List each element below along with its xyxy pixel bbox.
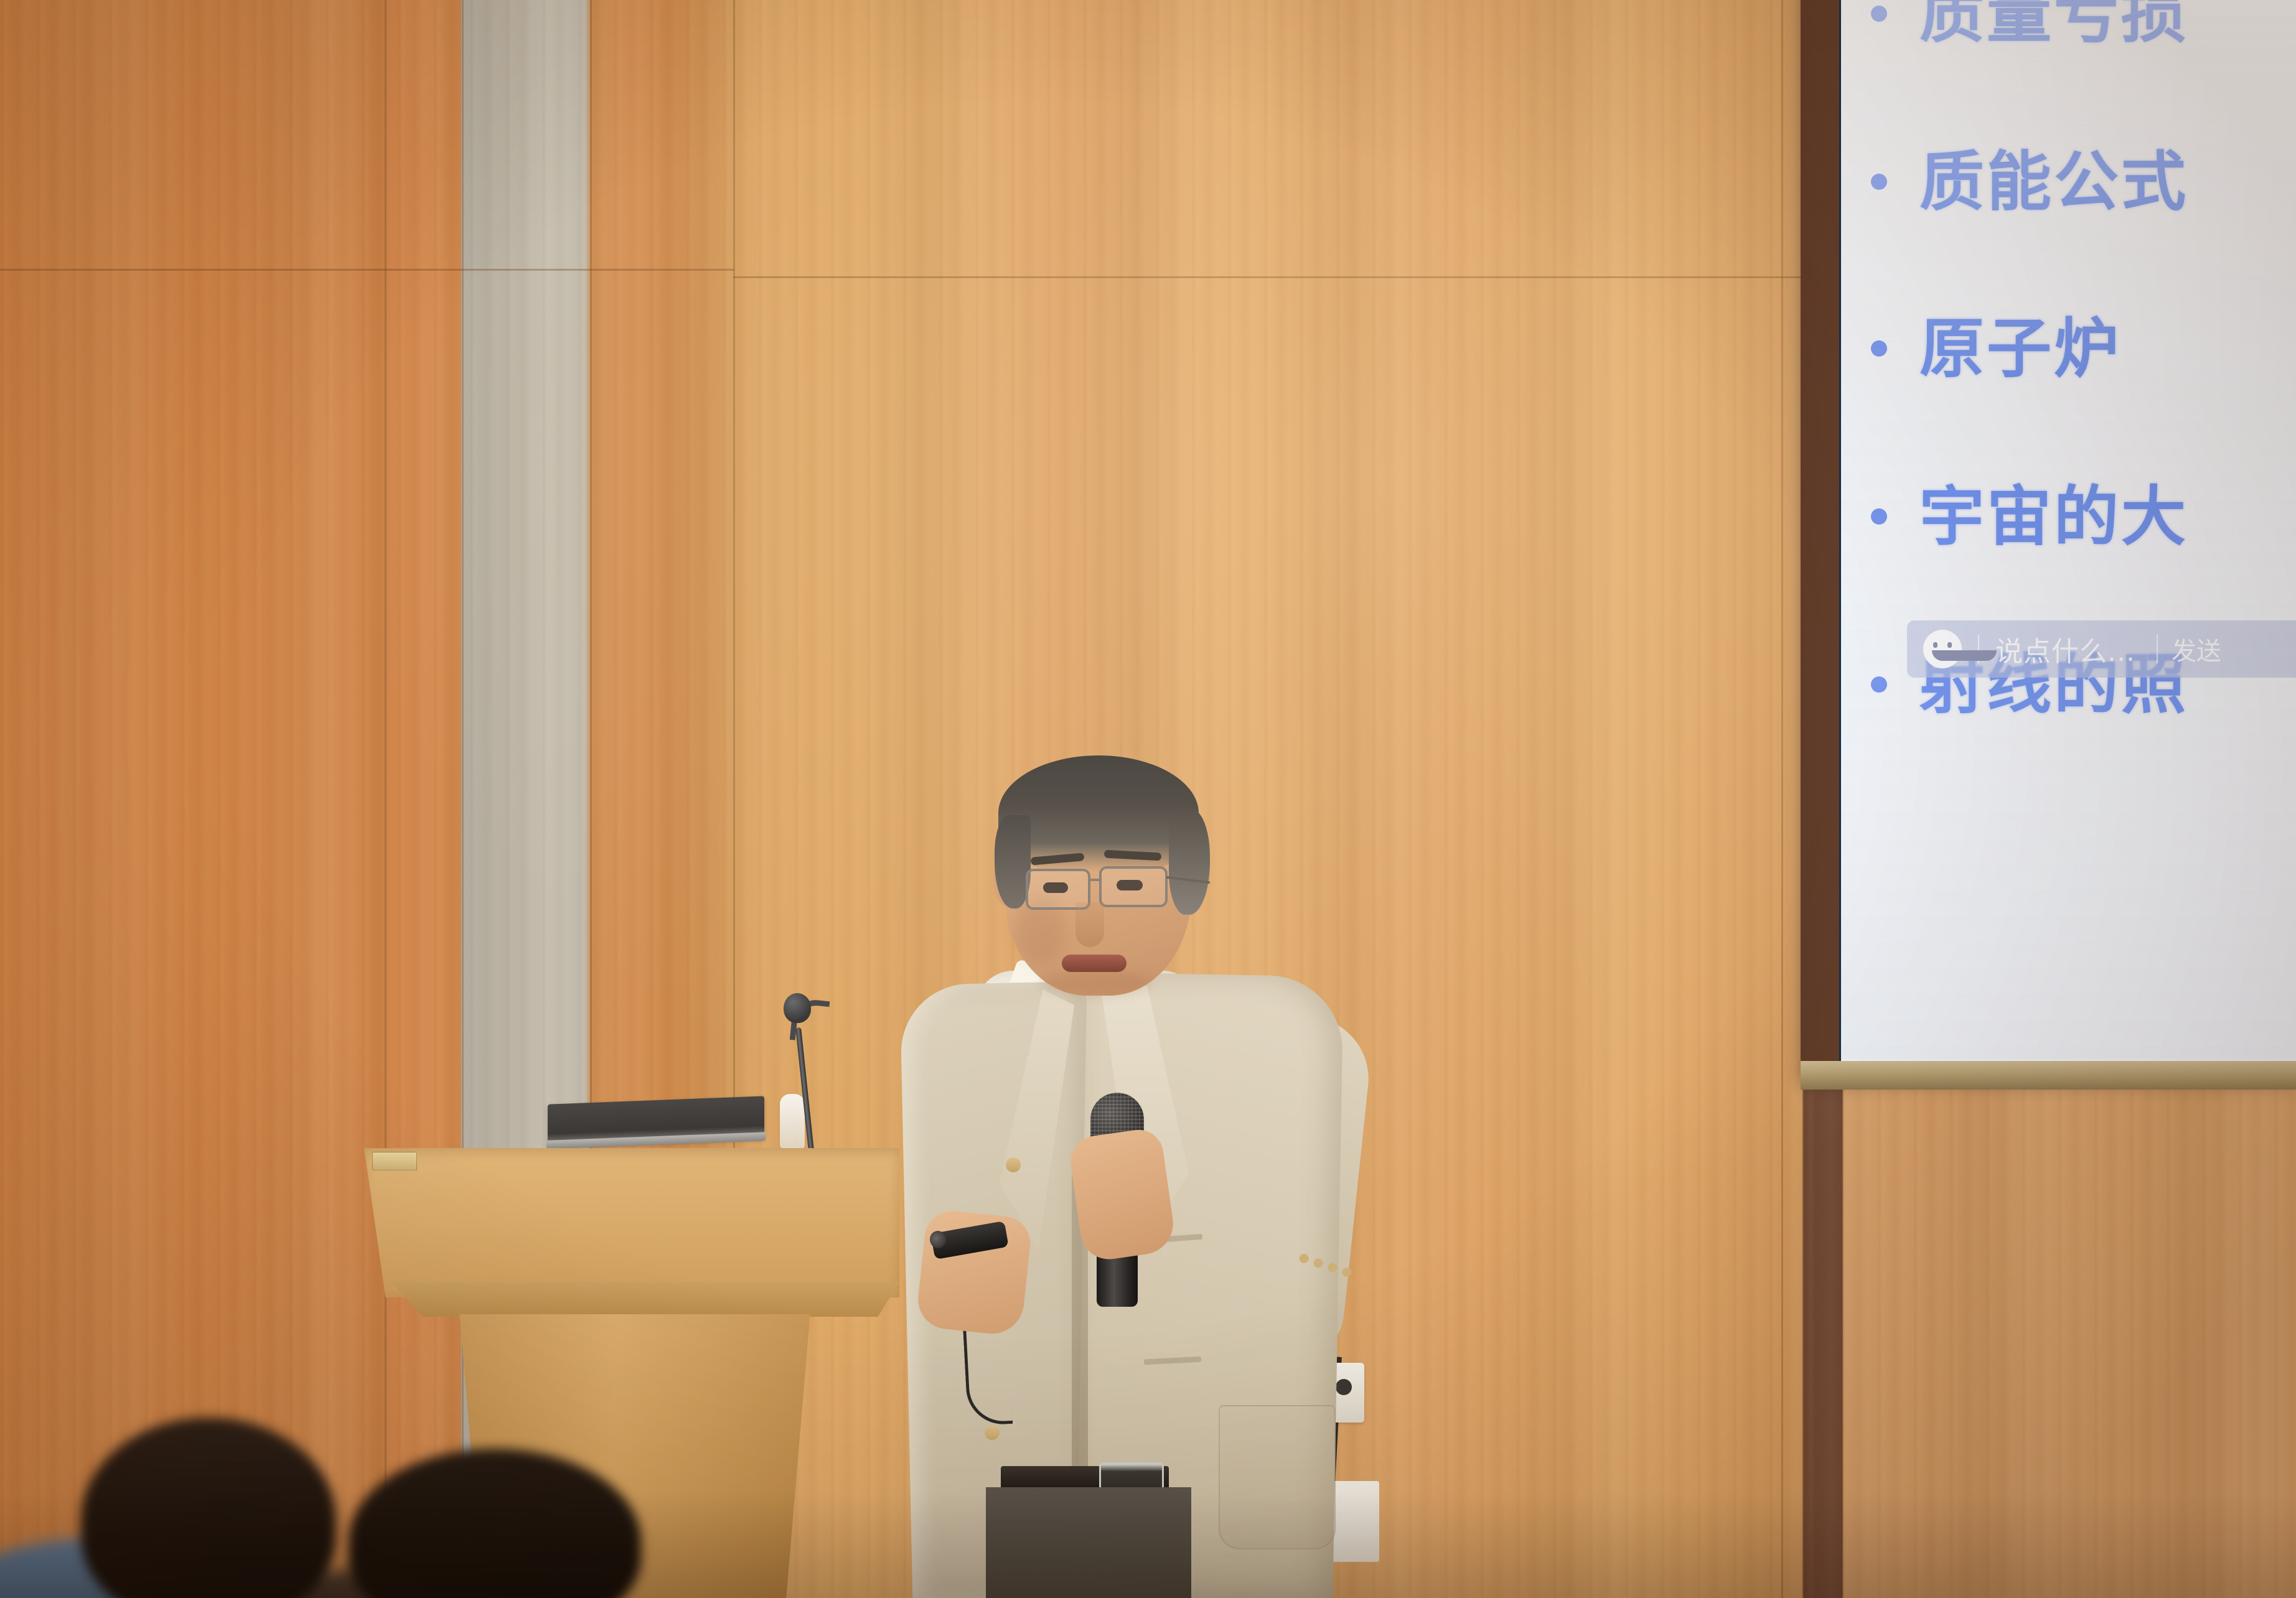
slide-bullet-text: 质量亏损 <box>1919 0 2188 46</box>
bullet-dot-icon <box>1871 676 1887 693</box>
chin-shading <box>1039 971 1151 996</box>
wall-panel-seam-horizontal <box>0 269 734 271</box>
water-glass <box>780 1094 805 1149</box>
wall-panel-seam-horizontal <box>733 276 1804 278</box>
trousers <box>986 1487 1191 1598</box>
jacket-button <box>985 1425 1000 1440</box>
speaker-figure <box>853 722 1413 1598</box>
podium-nameplate <box>372 1152 417 1170</box>
lecture-photo-scene: 质量亏损 质能公式 原子炉 宇宙的大 射线的照 说点什么... 发送 <box>0 0 2296 1598</box>
slide-bullet-text: 质能公式 <box>1919 149 2188 214</box>
hair-side-right <box>1169 809 1210 915</box>
wall-panel-seam <box>385 0 387 1598</box>
hand-right <box>1067 1127 1177 1263</box>
podium-top <box>364 1148 899 1297</box>
mouth <box>1062 955 1127 972</box>
projection-screen-bottom-bezel <box>1801 1061 2296 1090</box>
bullet-dot-icon <box>1871 508 1887 525</box>
bullet-dot-icon <box>1871 174 1887 190</box>
smiley-face-icon[interactable] <box>1923 630 1962 668</box>
comment-input-placeholder[interactable]: 说点什么... <box>1995 629 2135 669</box>
divider <box>2157 635 2158 663</box>
send-button[interactable]: 发送 <box>2172 631 2221 667</box>
slide-bullet-row: 质量亏损 <box>1841 0 2296 46</box>
bullet-dot-icon <box>1871 340 1887 357</box>
gooseneck-microphone-head <box>784 993 811 1023</box>
slide-bullet-text: 宇宙的大 <box>1919 484 2188 549</box>
slide-bullet-row: 宇宙的大 <box>1841 484 2296 549</box>
presentation-slide: 质量亏损 质能公式 原子炉 宇宙的大 射线的照 说点什么... 发送 <box>1841 0 2296 1059</box>
eyeglasses-lens-right <box>1099 866 1168 907</box>
jacket-button <box>1006 1157 1021 1172</box>
bullet-dot-icon <box>1871 6 1887 22</box>
jacket-patch-pocket <box>1219 1405 1336 1549</box>
slide-bullet-row: 原子炉 <box>1841 316 2296 381</box>
nose <box>1075 902 1104 947</box>
comment-input-bar[interactable]: 说点什么... 发送 <box>1907 620 2296 678</box>
eyeglasses-bridge <box>1089 879 1100 881</box>
slide-bullet-row: 质能公式 <box>1841 149 2296 214</box>
podium-top-edge <box>364 1282 899 1317</box>
wall-panel-seam <box>1781 0 1783 1598</box>
slide-bullet-text: 原子炉 <box>1919 316 2121 381</box>
